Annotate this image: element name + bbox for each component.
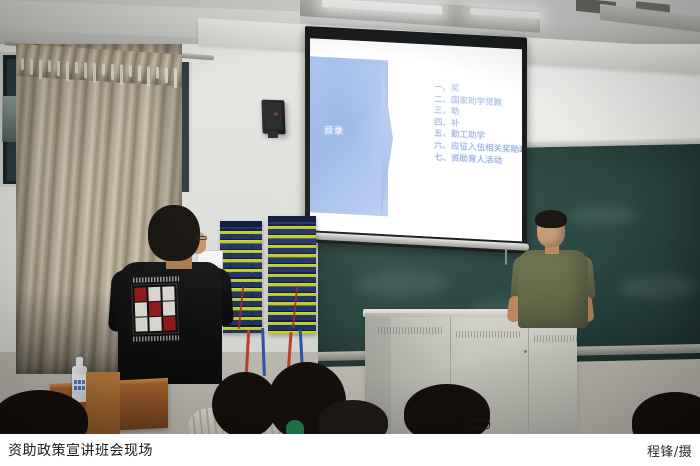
slide-outline-list: 一、奖二、国家助学贷款三、助四、补五、勤工助学六、应征入伍相关奖助政策七、资助育… xyxy=(394,81,522,171)
caption-title: 资助政策宣讲班会现场 xyxy=(8,440,153,460)
slide-outline-item-text: 助 xyxy=(451,107,460,117)
tshirt-graphic-cell xyxy=(134,287,147,301)
tshirt-graphic-cell xyxy=(148,287,161,301)
chalk-smudge xyxy=(568,205,638,224)
tshirt-graphic-cell xyxy=(149,302,162,316)
speaker-driver xyxy=(274,112,278,116)
tshirt-graphic-cell xyxy=(163,317,176,331)
projection-screen-cord xyxy=(505,248,507,264)
projection-screen-canvas: 目录 一、奖二、国家助学贷款三、助四、补五、勤工助学六、应征入伍相关奖助政策七、… xyxy=(310,38,522,241)
pocket-chart-header xyxy=(220,221,262,227)
tshirt-graphic-cell xyxy=(149,317,162,331)
presenter-torso xyxy=(518,250,588,328)
tshirt-graphic-cell xyxy=(135,318,148,332)
slide-outline-item-text: 勤工助学 xyxy=(451,130,485,142)
slide-outline-item-text: 奖 xyxy=(451,84,460,94)
water-bottle-label xyxy=(72,378,87,394)
glasses-icon xyxy=(466,420,490,429)
pocket-chart-row xyxy=(268,235,316,245)
slide-outline-item-number: 五、 xyxy=(434,129,451,141)
seated-student-head xyxy=(632,392,700,434)
pocket-chart-row xyxy=(268,283,316,293)
slide-outline-item-number: 一、 xyxy=(434,83,451,95)
slide-outline-item-number: 六、 xyxy=(434,141,451,153)
glasses-icon xyxy=(196,236,207,240)
slide-outline-item-number: 三、 xyxy=(434,106,451,118)
projection-screen: 目录 一、奖二、国家助学贷款三、助四、补五、勤工助学六、应征入伍相关奖助政策七、… xyxy=(305,26,527,254)
tshirt-graphic-cell xyxy=(162,301,175,315)
speaker-grill xyxy=(265,103,283,130)
pocket-chart-header xyxy=(268,216,316,222)
tshirt-graphic-cell xyxy=(135,302,148,316)
chair-back xyxy=(86,372,120,434)
classroom-scene: 目录 一、奖二、国家助学贷款三、助四、补五、勤工助学六、应征入伍相关奖助政策七、… xyxy=(0,0,700,434)
slide-outline-item-text: 补 xyxy=(451,118,460,128)
chalk-smudge xyxy=(618,274,698,300)
pocket-chart-row xyxy=(268,274,316,284)
pocket-chart-row xyxy=(220,250,262,260)
slide-chevron-icon xyxy=(381,60,393,217)
pocket-chart-row xyxy=(268,226,316,236)
pocket-chart-row xyxy=(268,254,316,264)
slide-outline-item-number: 七、 xyxy=(434,152,451,164)
speaker-bracket xyxy=(268,132,278,138)
tshirt-graphic xyxy=(131,283,179,335)
pocket-chart-row xyxy=(220,231,262,241)
pocket-chart-row xyxy=(220,327,262,333)
pocket-chart-row xyxy=(268,245,316,255)
caption-bar: 资助政策宣讲班会现场 程锋/摄 xyxy=(0,434,700,466)
seated-student-collar xyxy=(286,420,304,434)
pocket-chart-row xyxy=(220,259,262,269)
caption-credit: 程锋/摄 xyxy=(647,441,692,460)
wall-speaker-icon xyxy=(261,100,285,135)
pocket-chart-panel xyxy=(268,216,316,334)
standing-student-head xyxy=(148,205,200,261)
slide-outline-item-text: 资助育人活动 xyxy=(451,153,502,166)
presenter-hair xyxy=(535,210,567,228)
pocket-chart-row xyxy=(220,240,262,250)
presentation-slide: 目录 一、奖二、国家助学贷款三、助四、补五、勤工助学六、应征入伍相关奖助政策七、… xyxy=(310,38,522,241)
photo-frame: 目录 一、奖二、国家助学贷款三、助四、补五、勤工助学六、应征入伍相关奖助政策七、… xyxy=(0,0,700,466)
pocket-chart-row xyxy=(268,302,316,312)
chalk-smudge xyxy=(358,269,448,297)
pocket-chart-row xyxy=(268,293,316,303)
tshirt-graphic-cell xyxy=(162,286,175,300)
pocket-chart-row xyxy=(268,264,316,274)
slide-outline-item-text: 国家助学贷款 xyxy=(451,95,502,108)
